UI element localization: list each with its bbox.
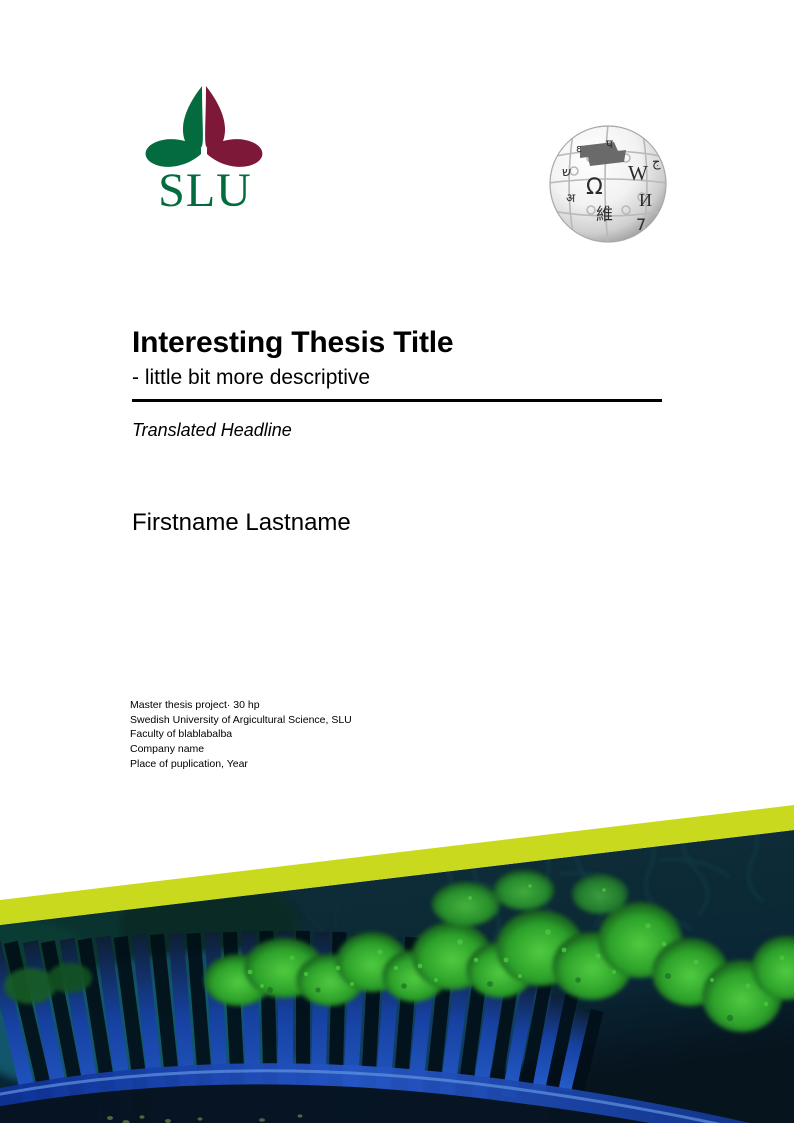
svg-text:ש: ש — [562, 165, 571, 180]
thesis-subtitle: - little bit more descriptive — [132, 366, 662, 390]
svg-text:維: 維 — [596, 205, 613, 225]
translated-headline: Translated Headline — [132, 420, 662, 441]
publication-meta-block: Master thesis project· 30 hp Swedish Uni… — [130, 698, 352, 772]
slu-wordmark: SLU — [158, 164, 252, 213]
meta-line-project: Master thesis project· 30 hp — [130, 698, 352, 713]
svg-text:Ω: Ω — [586, 175, 603, 200]
meta-line-company: Company name — [130, 742, 352, 757]
meta-line-faculty: Faculty of blablabalba — [130, 727, 352, 742]
thesis-title: Interesting Thesis Title — [132, 326, 662, 360]
svg-text:ɛ: ɛ — [576, 142, 582, 155]
author-name: Firstname Lastname — [132, 509, 351, 537]
slu-leaf-maroon-upper — [205, 86, 225, 150]
title-divider-rule — [132, 399, 662, 402]
svg-text:प: प — [606, 137, 613, 151]
slu-leaf-green-upper — [183, 86, 203, 150]
cover-artwork — [0, 790, 794, 1123]
meta-line-place-year: Place of puplication, Year — [130, 757, 352, 772]
wikipedia-globe-icon: Ω W И 維 7 ש अ प ج ɛ — [540, 118, 680, 250]
svg-text:अ: अ — [566, 191, 576, 205]
svg-text:И: И — [639, 190, 652, 210]
slu-logo: SLU — [140, 78, 270, 213]
title-block: Interesting Thesis Title - little bit mo… — [132, 326, 662, 441]
meta-line-university: Swedish University of Argicultural Scien… — [130, 713, 352, 728]
svg-text:W: W — [628, 161, 648, 185]
